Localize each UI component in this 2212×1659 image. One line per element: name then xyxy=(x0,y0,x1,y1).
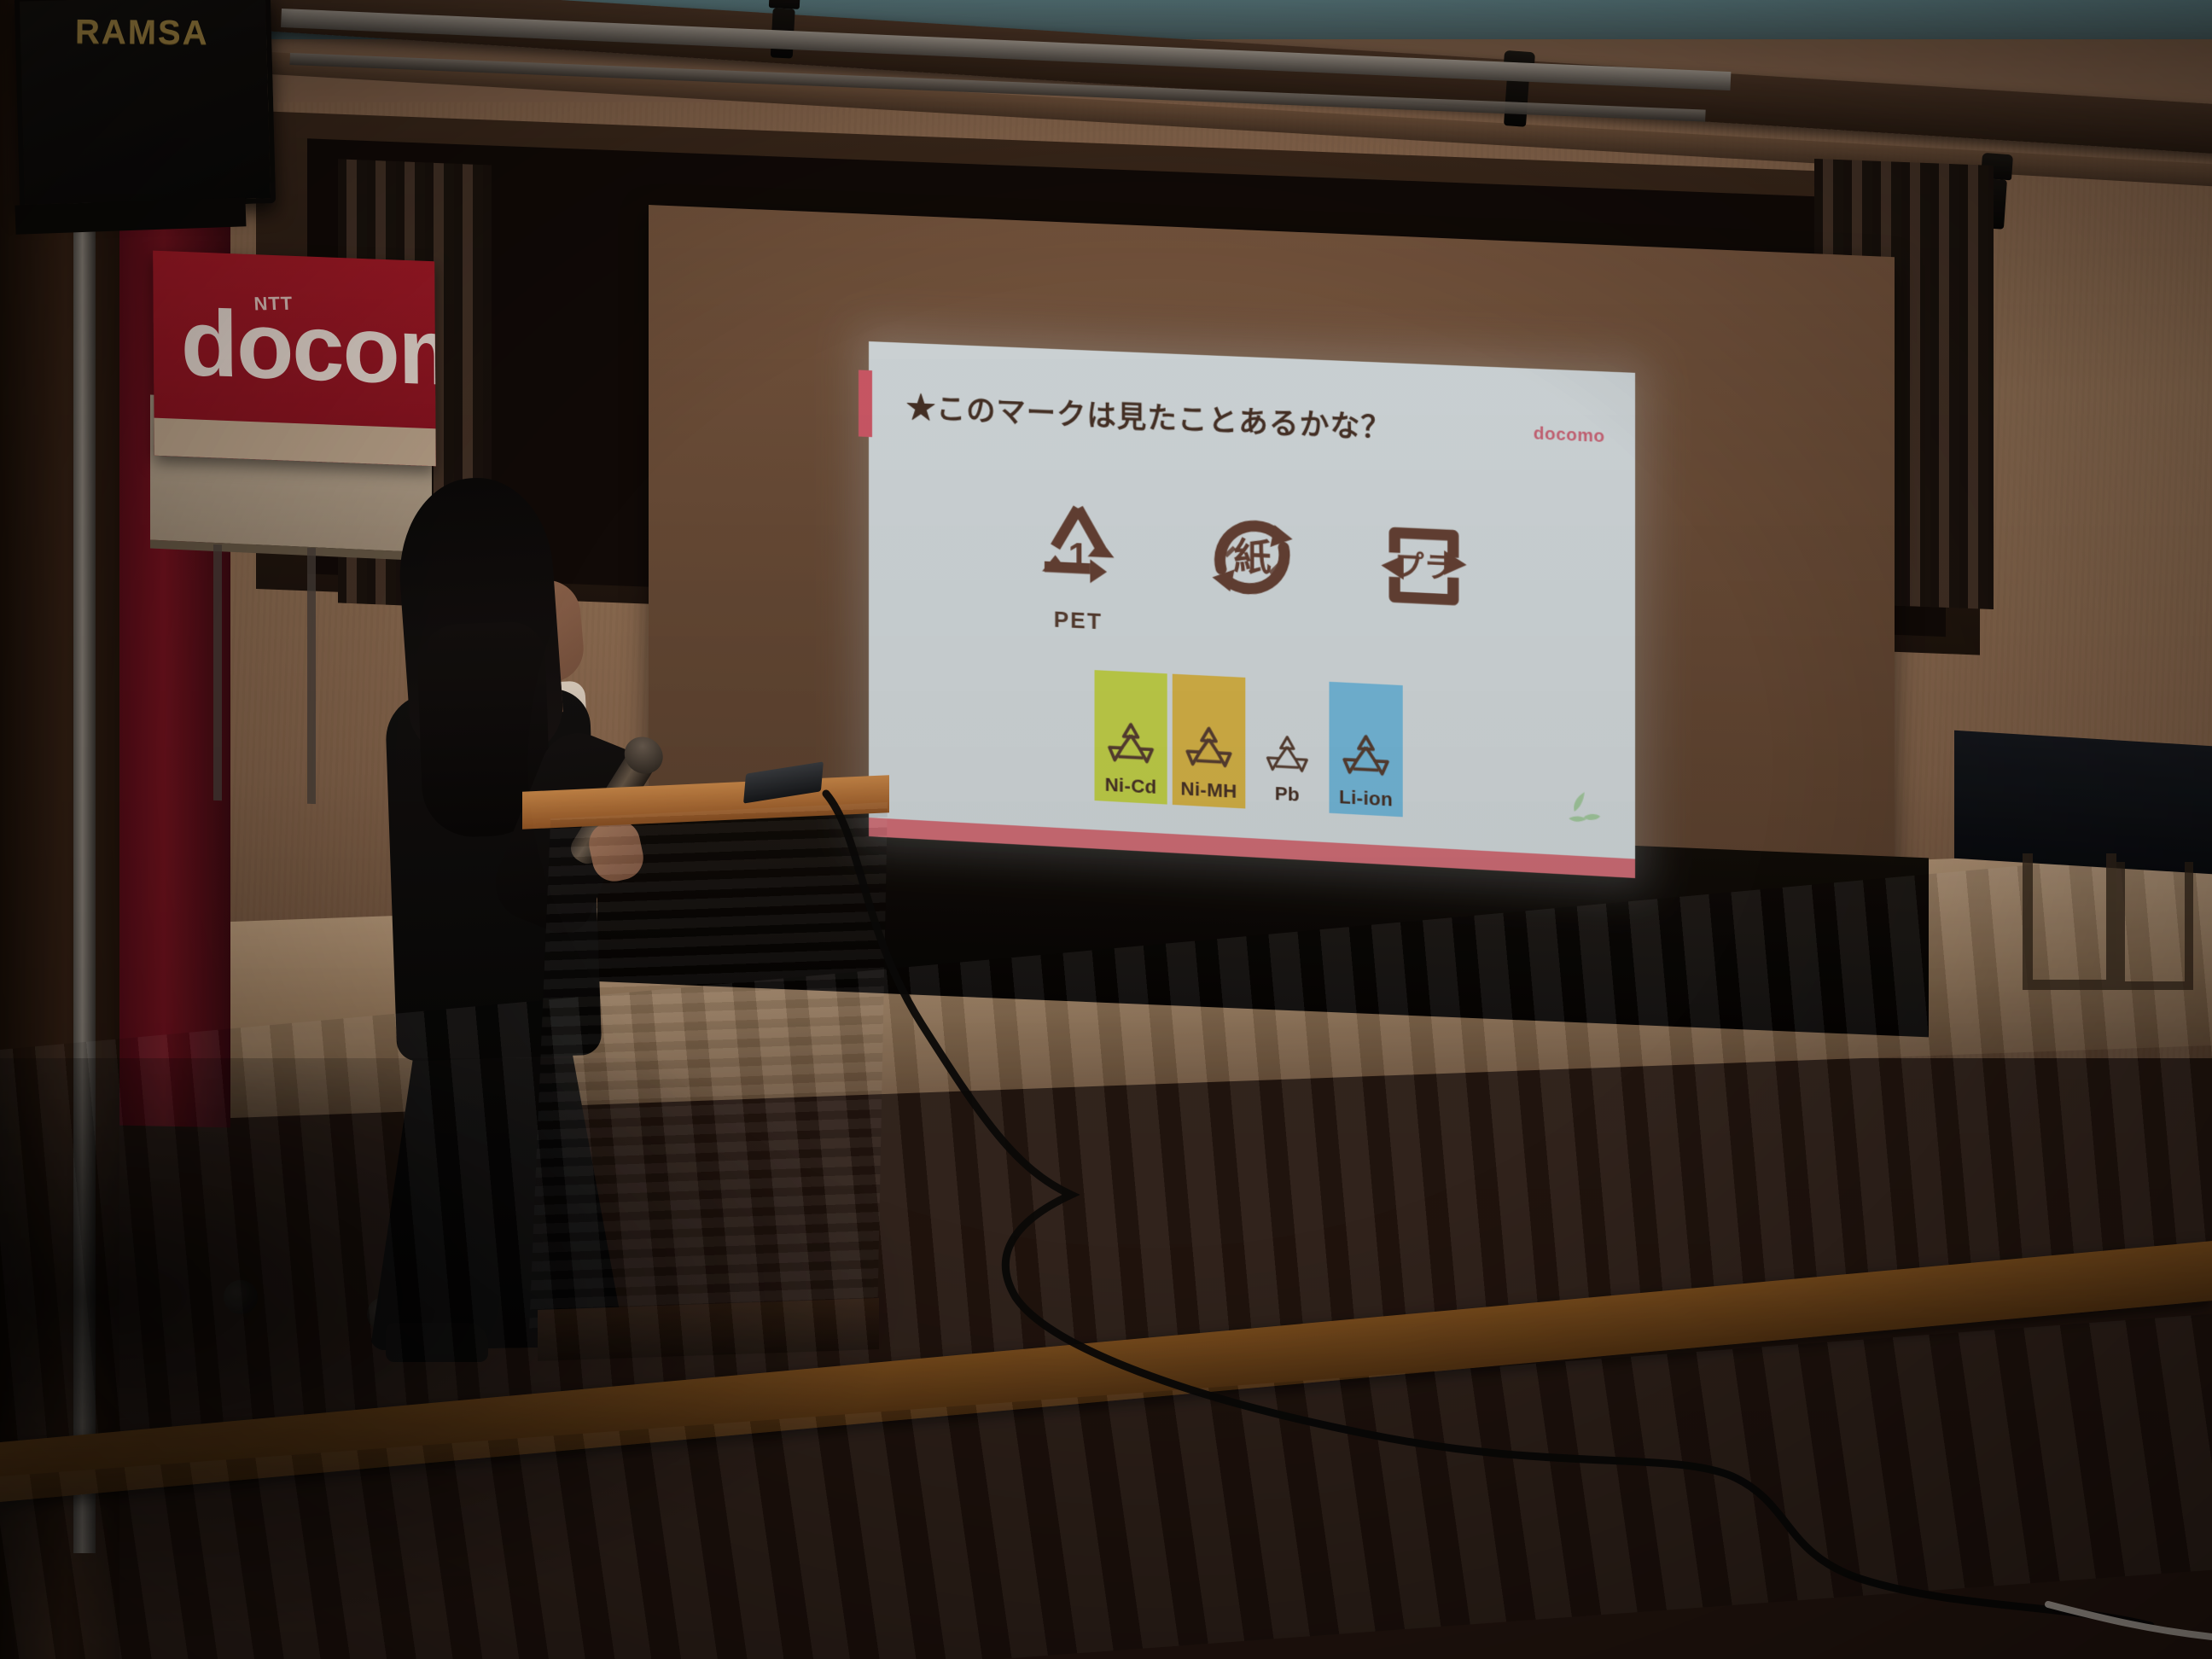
projected-slide: ★このマークは見たことあるかな？ docomo xyxy=(869,341,1635,878)
battery-mark-pb: Pb xyxy=(1250,678,1324,812)
svg-text:紙: 紙 xyxy=(1233,536,1272,581)
battery-mark-li-ion: Li-ion xyxy=(1329,682,1402,818)
plastic-mark-icon: プラ xyxy=(1367,507,1481,623)
paper-mark-icon: 紙 xyxy=(1196,499,1309,615)
battery-label-li-ion: Li-ion xyxy=(1339,786,1393,812)
recycle-arrows-icon xyxy=(1180,721,1237,779)
mark-cell-plastic: プラ xyxy=(1367,507,1481,626)
docomo-banner: NTT docomo xyxy=(153,251,436,467)
pet-mark-caption: PET xyxy=(1054,606,1103,635)
side-chair xyxy=(2116,862,2193,990)
mark-cell-pet: 1 PET xyxy=(1018,492,1139,637)
pet-mark-icon: 1 xyxy=(1018,492,1139,607)
side-table xyxy=(1954,731,2212,874)
recycle-arrows-icon xyxy=(1337,729,1395,787)
mark-cell-paper: 紙 xyxy=(1196,499,1309,619)
slide-canvas: ★このマークは見たことあるかな？ docomo xyxy=(869,341,1635,878)
recycle-arrows-icon xyxy=(1103,717,1160,775)
battery-label-ni-cd: Ni-Cd xyxy=(1105,774,1157,799)
banner-docomo-wordmark: docomo xyxy=(181,296,436,404)
svg-text:プラ: プラ xyxy=(1394,548,1453,585)
recycle-arrows-icon xyxy=(1261,730,1313,783)
photo-scene: ★このマークは見たことあるかな？ docomo xyxy=(0,0,2212,1659)
floor-shadow xyxy=(0,1058,939,1656)
pa-speaker-cabinet: RAMSA xyxy=(15,0,276,210)
battery-label-pb: Pb xyxy=(1275,783,1300,806)
slide-title: ★このマークは見たことあるかな？ xyxy=(906,384,1391,447)
battery-mark-ni-mh: Ni-MH xyxy=(1173,674,1246,809)
material-marks-row: 1 PET xyxy=(869,485,1635,661)
svg-text:1: 1 xyxy=(1068,535,1088,576)
eco-leaf-watermark-icon xyxy=(1561,787,1609,829)
battery-label-ni-mh: Ni-MH xyxy=(1180,777,1237,803)
side-chair xyxy=(2023,853,2116,990)
whiteboard-legs xyxy=(213,544,316,804)
ramsa-brand-label: RAMSA xyxy=(75,13,209,52)
slide-docomo-logo: docomo xyxy=(1534,424,1605,447)
slide-accent-tab xyxy=(859,370,872,437)
battery-mark-ni-cd: Ni-Cd xyxy=(1095,670,1167,804)
battery-marks-row: Ni-Cd Ni-MH xyxy=(869,659,1635,829)
